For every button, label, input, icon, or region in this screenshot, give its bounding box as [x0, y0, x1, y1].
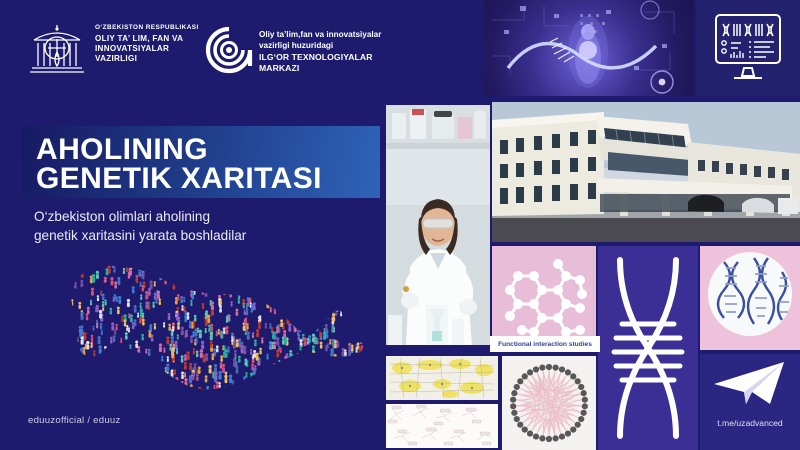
chord-diagram-chart — [502, 356, 596, 450]
gene-network-map-chart — [386, 356, 498, 400]
telegram-tile[interactable]: t.me/uzadvanced — [700, 354, 800, 450]
subtitle-text: O‘zbekiston olimlari aholining genetik x… — [34, 207, 374, 246]
concentric-target-icon — [205, 26, 253, 74]
genome-monitor-tile — [696, 0, 800, 96]
social-handle: eduuzofficial / eduuz — [28, 415, 121, 426]
pathway-diagrams-chart — [386, 404, 498, 448]
molecular-structure-icon — [492, 246, 596, 350]
poster-canvas: O‘ZBEKISTON RESPUBLIKASI OLIY TA’ LIM, F… — [0, 0, 800, 450]
image-mosaic: Functional interaction studies — [384, 0, 800, 450]
ministry-country-line: O‘ZBEKISTON RESPUBLIKASI — [95, 24, 199, 32]
telegram-handle[interactable]: t.me/uzadvanced — [700, 418, 800, 428]
center-logo-line3: ILG‘OR TEXNOLOGIYALAR MARKAZI — [259, 52, 384, 74]
dna-strands-circle-image — [700, 246, 800, 350]
uzbekistan-people-map — [24, 250, 372, 400]
ministry-name-line: OLIY TA’ LIM, FAN VA INNOVATSIYALAR VAZI… — [95, 34, 199, 64]
ministry-logo-text: O‘ZBEKISTON RESPUBLIKASI OLIY TA’ LIM, F… — [95, 24, 199, 64]
title-line-1: AHOLINING — [36, 135, 208, 165]
telegram-icon[interactable] — [700, 354, 800, 414]
functional-studies-caption: Functional interaction studies — [492, 341, 598, 348]
center-logo-line2: vazirligi huzuridagi — [259, 41, 384, 52]
header-logo-row: O‘ZBEKISTON RESPUBLIKASI OLIY TA’ LIM, F… — [0, 8, 384, 88]
title-banner: AHOLINING GENETIK XARITASI — [22, 126, 380, 198]
center-logo-text: Oliy ta’lim,fan va innovatsiyalar vazirl… — [259, 30, 384, 75]
scientist-lab-photo — [386, 105, 490, 345]
center-logo-line1: Oliy ta’lim,fan va innovatsiyalar — [259, 30, 384, 41]
ministry-emblem-icon — [26, 22, 88, 78]
dna-human-hologram-image — [484, 0, 694, 96]
genome-monitor-icon — [714, 12, 782, 84]
left-column: O‘ZBEKISTON RESPUBLIKASI OLIY TA’ LIM, F… — [0, 0, 384, 450]
research-institute-building-photo — [492, 102, 800, 242]
dna-double-helix-icon — [598, 246, 698, 450]
title-line-2: GENETIK XARITASI — [36, 164, 322, 194]
